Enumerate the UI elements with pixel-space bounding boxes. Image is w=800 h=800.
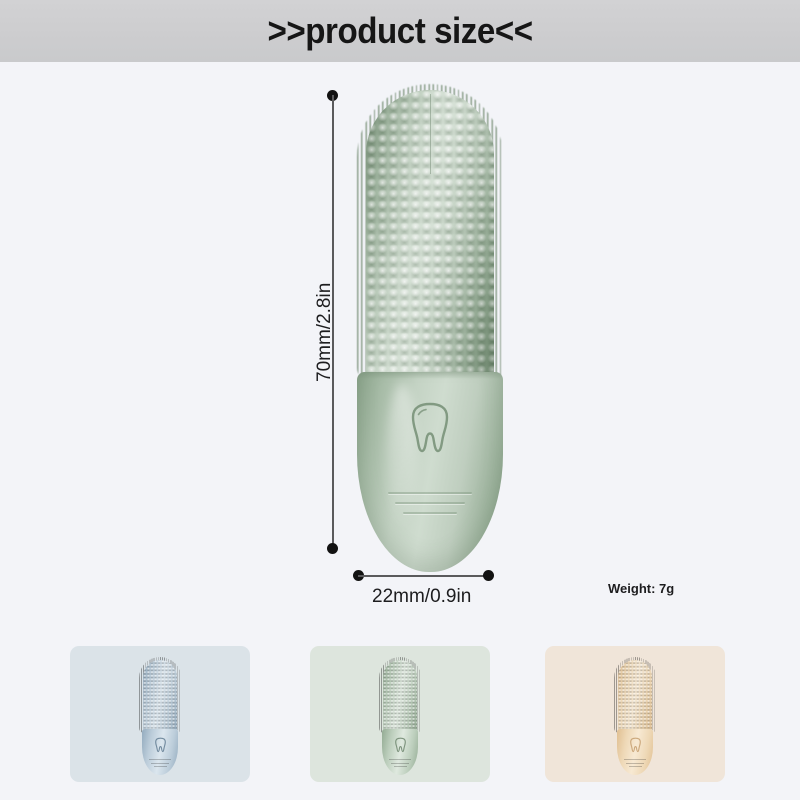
brush-head (143, 660, 177, 733)
brush-handle (382, 729, 418, 775)
handle-grip-lines (149, 759, 171, 768)
infographic-page: >>product size<< (0, 0, 800, 800)
grip-line (388, 492, 472, 494)
head-seam-line (430, 94, 431, 174)
tooth-icon (407, 400, 453, 456)
grip-line (391, 763, 409, 764)
handle-body (357, 372, 503, 572)
brush-head (355, 84, 505, 384)
height-dimension-label: 70mm/2.8in (314, 283, 336, 382)
header-band: >>product size<< (0, 0, 800, 62)
page-title: >>product size<< (267, 10, 532, 52)
handle-grip-lines (624, 759, 646, 768)
variant-thumbnail-green (379, 657, 421, 775)
tooth-icon (394, 737, 407, 753)
bristle-nubs (143, 660, 177, 733)
width-dimension-dot-right (483, 570, 494, 581)
bristle-nubs (618, 660, 652, 733)
width-dimension-label: 22mm/0.9in (372, 586, 471, 608)
weight-label: Weight: 7g (608, 581, 674, 596)
tooth-icon (629, 737, 642, 753)
width-dimension-line (358, 575, 488, 577)
color-variants (0, 622, 800, 800)
product-image (355, 84, 505, 572)
variant-card-green[interactable] (310, 646, 490, 782)
bristle-nubs (383, 660, 417, 733)
variant-card-beige[interactable] (545, 646, 725, 782)
product-stage: 70mm/2.8in 22mm/0.9in Weight: 7g (0, 62, 800, 622)
grip-line (403, 512, 457, 514)
grip-line (394, 766, 407, 767)
grip-line (154, 766, 167, 767)
handle-grip-lines (389, 759, 411, 768)
grip-line (626, 763, 644, 764)
height-dimension-dot-bottom (327, 543, 338, 554)
brush-handle (617, 729, 653, 775)
handle-collar (357, 372, 503, 379)
tooth-icon (154, 737, 167, 753)
grip-line (151, 763, 169, 764)
grip-line (624, 759, 646, 760)
grip-line (149, 759, 171, 760)
grip-line (629, 766, 642, 767)
variant-thumbnail-blue (139, 657, 181, 775)
grip-line (395, 502, 465, 504)
brush-handle (357, 372, 503, 572)
grip-line (389, 759, 411, 760)
handle-grip-lines (387, 492, 473, 518)
brush-handle (142, 729, 178, 775)
variant-thumbnail-beige (614, 657, 656, 775)
brush-head (383, 660, 417, 733)
variant-card-blue[interactable] (70, 646, 250, 782)
brush-head-body (366, 90, 494, 382)
brush-head (618, 660, 652, 733)
